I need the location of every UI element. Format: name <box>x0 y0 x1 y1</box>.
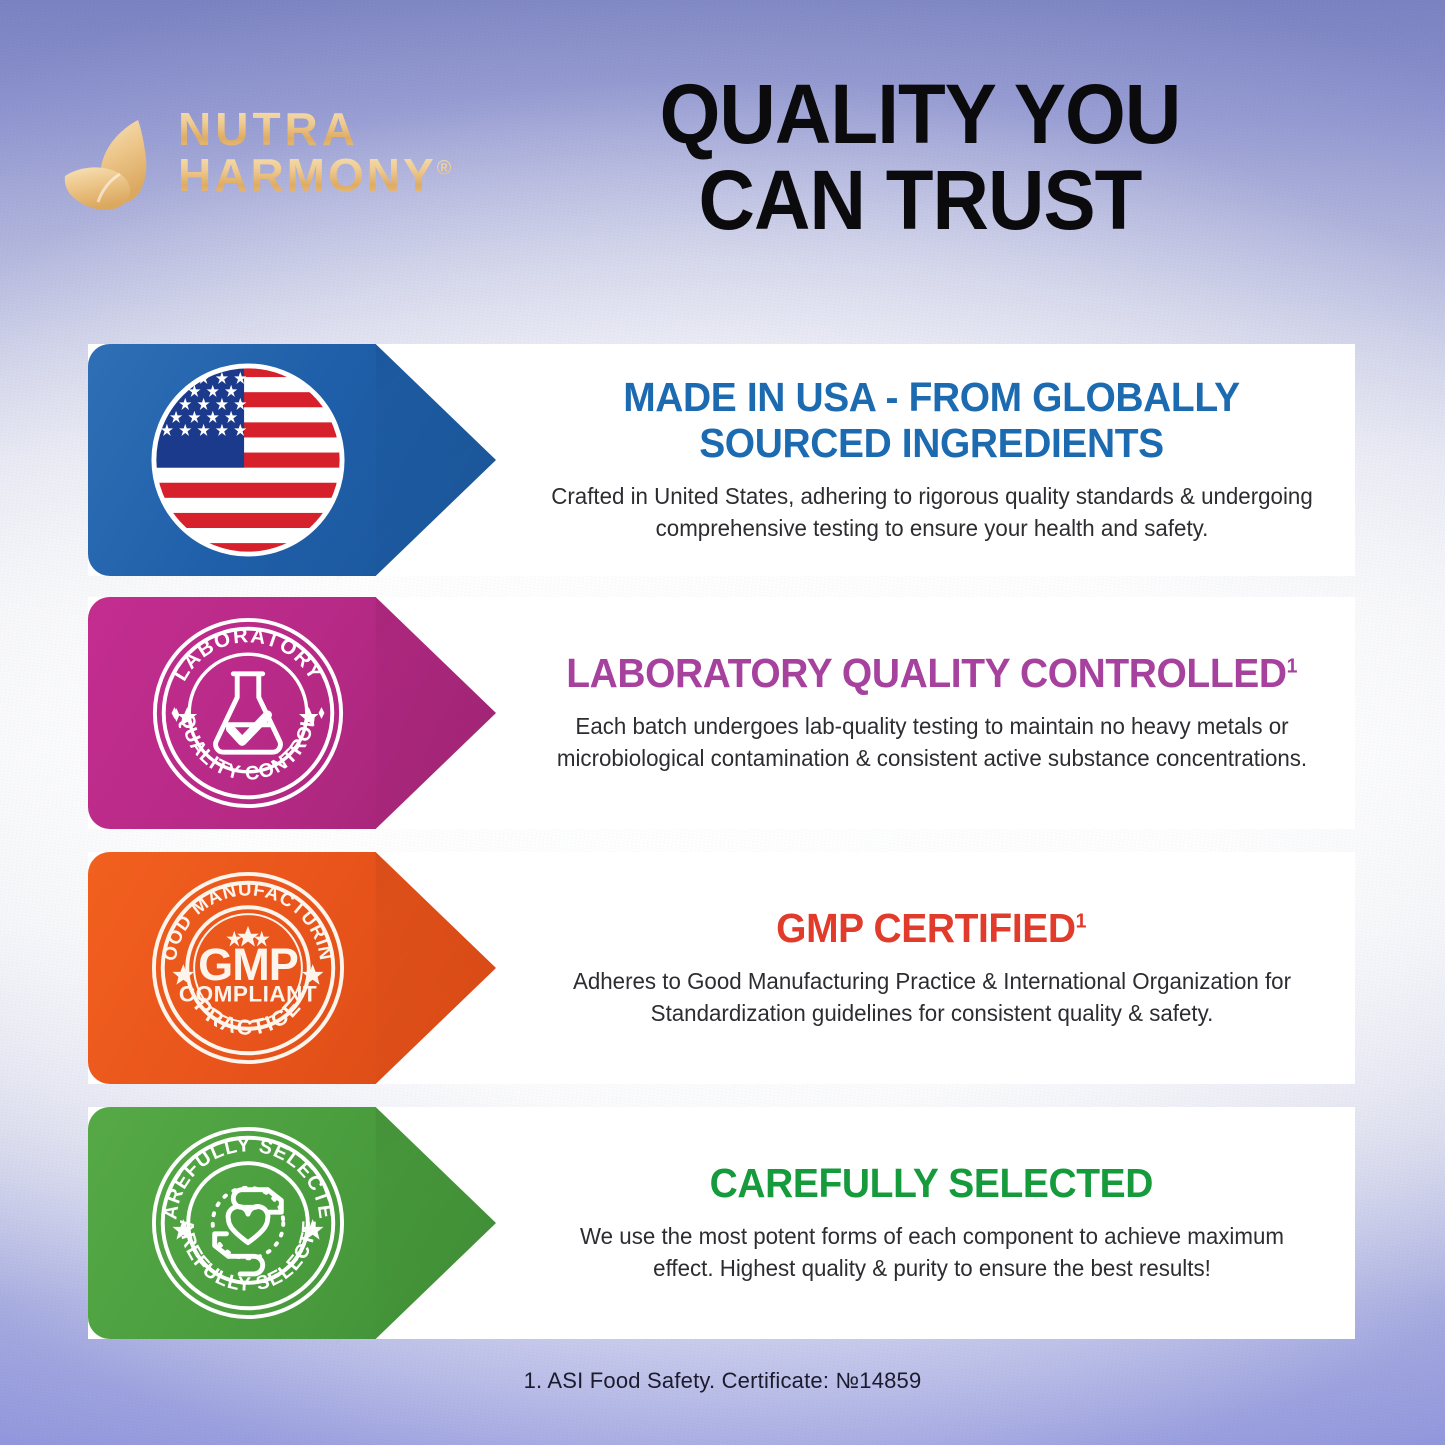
page-title: QUALITY YOU CAN TRUST <box>585 72 1255 243</box>
feature-description: Adheres to Good Manufacturing Practice &… <box>548 965 1314 1030</box>
brand-logo: NUTRA HARMONY® <box>62 100 512 250</box>
feature-heading-text: GMP CERTIFIED <box>777 905 1076 951</box>
registered-mark: ® <box>437 158 452 180</box>
feature-row-carefully-selected: CAREFULLY SELECTED CAREFULLY SELECTED <box>88 1107 1355 1339</box>
gmp-seal-icon: GOOD MANUFACTURING PRACTICE GMP COMPLIAN… <box>150 870 346 1066</box>
lab-flask-seal-icon: LABORATORY QUALITY CONTROL <box>150 615 346 811</box>
feature-heading: CAREFULLY SELECTED <box>710 1161 1153 1207</box>
leaf-icon <box>62 114 182 224</box>
feature-heading: LABORATORY QUALITY CONTROLLED1 <box>566 651 1297 697</box>
feature-description: We use the most potent forms of each com… <box>548 1220 1314 1285</box>
feature-row-made-in-usa: MADE IN USA - FROM GLOBALLY SOURCED INGR… <box>88 344 1355 576</box>
feature-row-laboratory: LABORATORY QUALITY CONTROL <box>88 597 1355 829</box>
headline-line-1: QUALITY YOU <box>585 72 1255 158</box>
footnote-superscript: 1 <box>1286 654 1296 677</box>
logo-line-2: HARMONY® <box>178 154 508 196</box>
us-flag-icon <box>150 362 346 558</box>
feature-content: MADE IN USA - FROM GLOBALLY SOURCED INGR… <box>508 344 1355 576</box>
footnote-text: 1. ASI Food Safety. Certificate: №14859 <box>0 1368 1445 1394</box>
feature-heading: MADE IN USA - FROM GLOBALLY SOURCED INGR… <box>542 375 1320 467</box>
hands-heart-seal-icon: CAREFULLY SELECTED CAREFULLY SELECTED <box>150 1125 346 1321</box>
footnote-superscript: 1 <box>1076 909 1086 932</box>
headline-line-2: CAN TRUST <box>585 158 1255 244</box>
feature-content: CAREFULLY SELECTED We use the most poten… <box>508 1107 1355 1339</box>
feature-content: GMP CERTIFIED1 Adheres to Good Manufactu… <box>508 852 1355 1084</box>
logo-line-2-text: HARMONY <box>178 149 437 201</box>
feature-content: LABORATORY QUALITY CONTROLLED1 Each batc… <box>508 597 1355 829</box>
feature-row-gmp: GOOD MANUFACTURING PRACTICE GMP COMPLIAN… <box>88 852 1355 1084</box>
feature-heading-text: LABORATORY QUALITY CONTROLLED <box>566 650 1286 696</box>
feature-description: Each batch undergoes lab-quality testing… <box>548 710 1314 775</box>
feature-heading: GMP CERTIFIED1 <box>777 906 1087 952</box>
infographic-page: NUTRA HARMONY® QUALITY YOU CAN TRUST <box>0 0 1445 1445</box>
logo-line-1: NUTRA <box>178 108 508 150</box>
svg-text:COMPLIANT: COMPLIANT <box>179 981 317 1006</box>
feature-description: Crafted in United States, adhering to ri… <box>548 480 1314 545</box>
